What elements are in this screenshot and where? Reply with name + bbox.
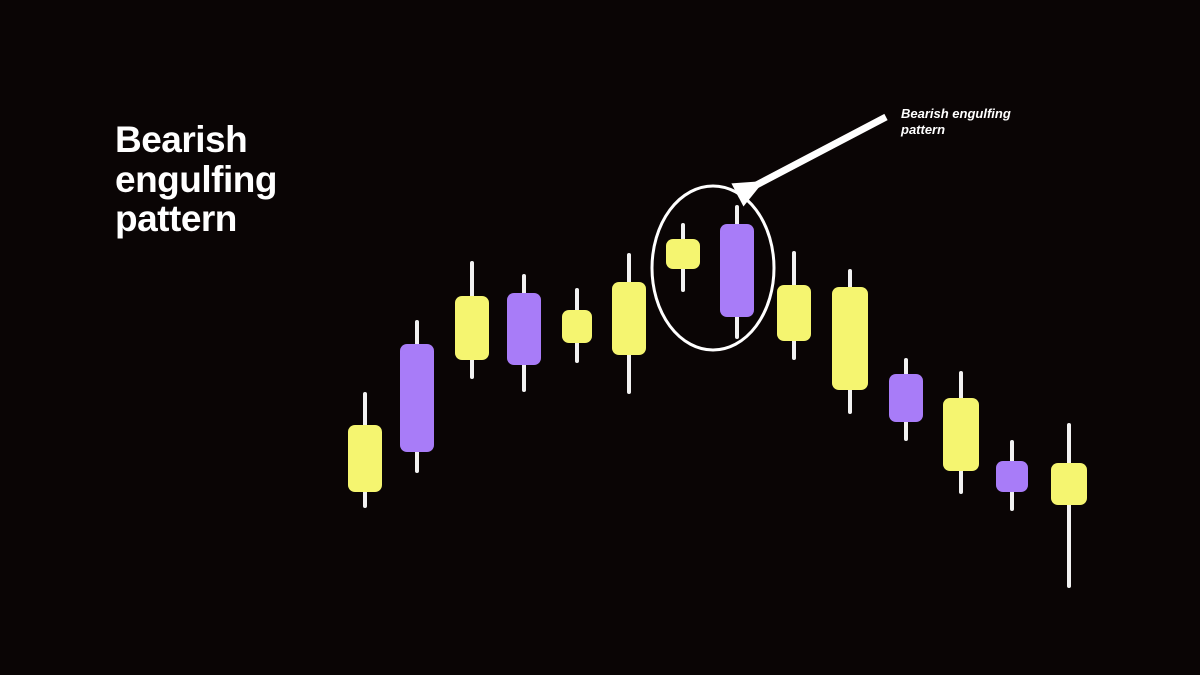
annotation-arrow-icon	[731, 117, 886, 206]
annotation-overlay	[0, 0, 1200, 675]
candlestick-chart-figure: Bearish engulfing pattern Bearish engulf…	[0, 0, 1200, 675]
pattern-highlight-ellipse	[652, 186, 774, 350]
annotation-label: Bearish engulfing pattern	[901, 106, 1051, 139]
page-title: Bearish engulfing pattern	[115, 120, 435, 239]
